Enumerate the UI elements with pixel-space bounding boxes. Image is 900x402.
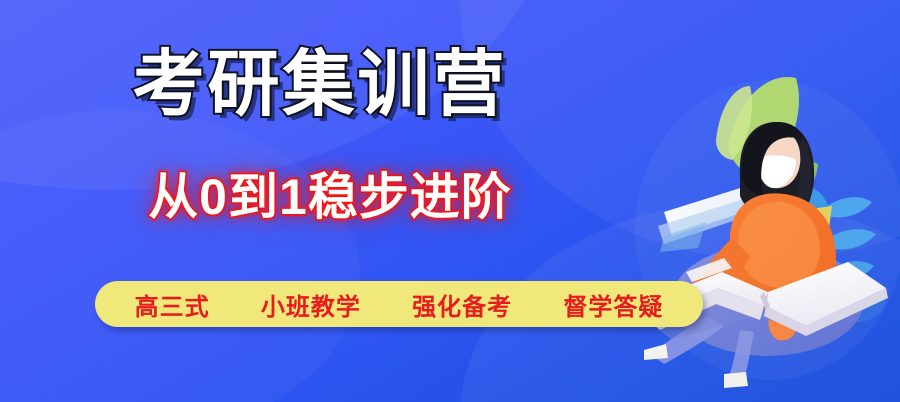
blue-fern-decor — [794, 184, 886, 322]
white-book-bar-decor — [658, 178, 780, 252]
feature-tag-bar: 高三式 小班教学 强化备考 督学答疑 — [95, 281, 703, 327]
main-title: 考研集训营 — [132, 42, 507, 128]
background-blob-mid-left — [0, 110, 360, 402]
illustration-glow — [635, 80, 900, 380]
yellow-accent-decor — [788, 206, 832, 252]
face-mask — [758, 155, 796, 188]
student-reading-book-illustration — [620, 0, 900, 402]
main-title-container: 考研集训营 — [0, 42, 640, 128]
feature-tag-1[interactable]: 高三式 — [135, 287, 210, 322]
sweater-body — [730, 193, 836, 314]
arm-right — [764, 290, 808, 322]
face — [760, 132, 801, 189]
hair-fringe — [742, 122, 806, 196]
sub-title: 从0到1稳步进阶 — [148, 166, 512, 228]
feature-tag-3[interactable]: 强化备考 — [412, 287, 512, 322]
sweater-highlight — [738, 202, 820, 288]
mask-strap — [752, 160, 759, 170]
hair-side — [790, 136, 812, 222]
page-fragment — [686, 258, 732, 282]
hand-right — [768, 312, 796, 340]
feature-tag-4[interactable]: 督学答疑 — [563, 287, 663, 322]
green-leaves-decor — [716, 77, 818, 206]
sub-title-container: 从0到1稳步进阶 — [0, 166, 660, 228]
feature-tag-2[interactable]: 小班教学 — [261, 287, 361, 322]
hair — [740, 122, 814, 222]
promo-banner: 考研集训营 从0到1稳步进阶 高三式 小班教学 强化备考 督学答疑 — [0, 0, 900, 402]
